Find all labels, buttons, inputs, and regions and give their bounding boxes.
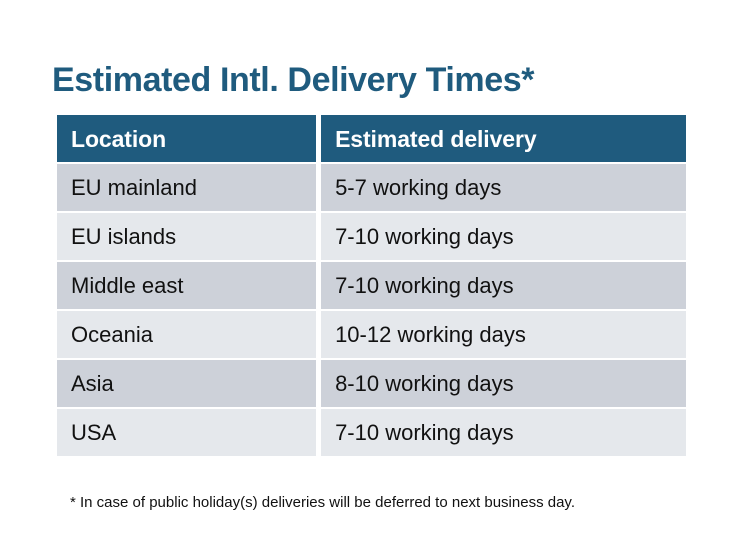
delivery-times-table: Location Estimated delivery EU mainland … bbox=[52, 113, 691, 458]
cell-delivery: 7-10 working days bbox=[321, 213, 686, 260]
cell-delivery: 7-10 working days bbox=[321, 409, 686, 456]
cell-location: USA bbox=[57, 409, 316, 456]
table-row: Middle east 7-10 working days bbox=[57, 262, 686, 309]
table-row: Oceania 10-12 working days bbox=[57, 311, 686, 358]
cell-location: Asia bbox=[57, 360, 316, 407]
table-header-row: Location Estimated delivery bbox=[57, 115, 686, 162]
delivery-times-page: Estimated Intl. Delivery Times* Location… bbox=[0, 0, 745, 536]
page-title: Estimated Intl. Delivery Times* bbox=[52, 59, 534, 101]
footnote: * In case of public holiday(s) deliverie… bbox=[70, 493, 575, 513]
cell-location: EU islands bbox=[57, 213, 316, 260]
cell-delivery: 5-7 working days bbox=[321, 164, 686, 211]
cell-delivery: 7-10 working days bbox=[321, 262, 686, 309]
table-body: EU mainland 5-7 working days EU islands … bbox=[57, 164, 686, 456]
table-row: EU islands 7-10 working days bbox=[57, 213, 686, 260]
cell-location: Middle east bbox=[57, 262, 316, 309]
cell-delivery: 10-12 working days bbox=[321, 311, 686, 358]
cell-location: Oceania bbox=[57, 311, 316, 358]
table-header: Location Estimated delivery bbox=[57, 115, 686, 162]
cell-delivery: 8-10 working days bbox=[321, 360, 686, 407]
table-row: USA 7-10 working days bbox=[57, 409, 686, 456]
cell-location: EU mainland bbox=[57, 164, 316, 211]
table-row: EU mainland 5-7 working days bbox=[57, 164, 686, 211]
table-row: Asia 8-10 working days bbox=[57, 360, 686, 407]
column-header-location: Location bbox=[57, 115, 316, 162]
column-header-estimated-delivery: Estimated delivery bbox=[321, 115, 686, 162]
